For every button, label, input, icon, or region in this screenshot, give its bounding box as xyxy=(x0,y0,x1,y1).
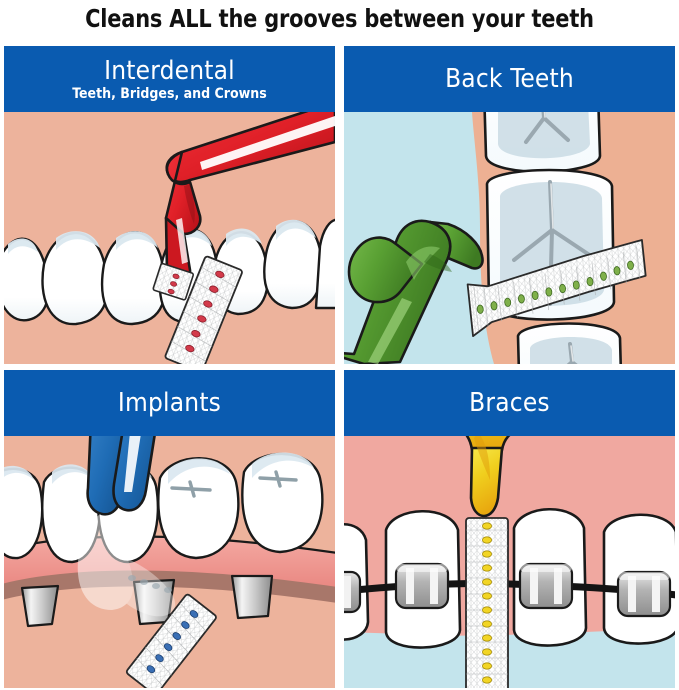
illustration-back-teeth xyxy=(344,112,675,364)
panel-title: Implants xyxy=(118,389,221,417)
panel-braces[interactable]: Braces xyxy=(344,370,675,688)
panel-header-back-teeth: Back Teeth xyxy=(344,46,675,112)
infographic-page: Cleans ALL the grooves between your teet… xyxy=(0,0,679,690)
panel-title: Interdental xyxy=(104,57,235,85)
panel-grid: Interdental Teeth, Bridges, and Crowns xyxy=(0,44,679,690)
panel-interdental[interactable]: Interdental Teeth, Bridges, and Crowns xyxy=(4,46,335,364)
panel-header-interdental: Interdental Teeth, Bridges, and Crowns xyxy=(4,46,335,112)
illustration-implants xyxy=(4,436,335,688)
panel-title: Braces xyxy=(469,389,550,417)
panel-header-implants: Implants xyxy=(4,370,335,436)
panel-back-teeth[interactable]: Back Teeth xyxy=(344,46,675,364)
panel-header-braces: Braces xyxy=(344,370,675,436)
panel-implants[interactable]: Implants xyxy=(4,370,335,688)
illustration-interdental xyxy=(4,112,335,364)
illustration-braces xyxy=(344,436,675,688)
page-title: Cleans ALL the grooves between your teet… xyxy=(24,0,655,40)
panel-subtitle: Teeth, Bridges, and Crowns xyxy=(72,86,266,103)
panel-title: Back Teeth xyxy=(445,65,574,93)
